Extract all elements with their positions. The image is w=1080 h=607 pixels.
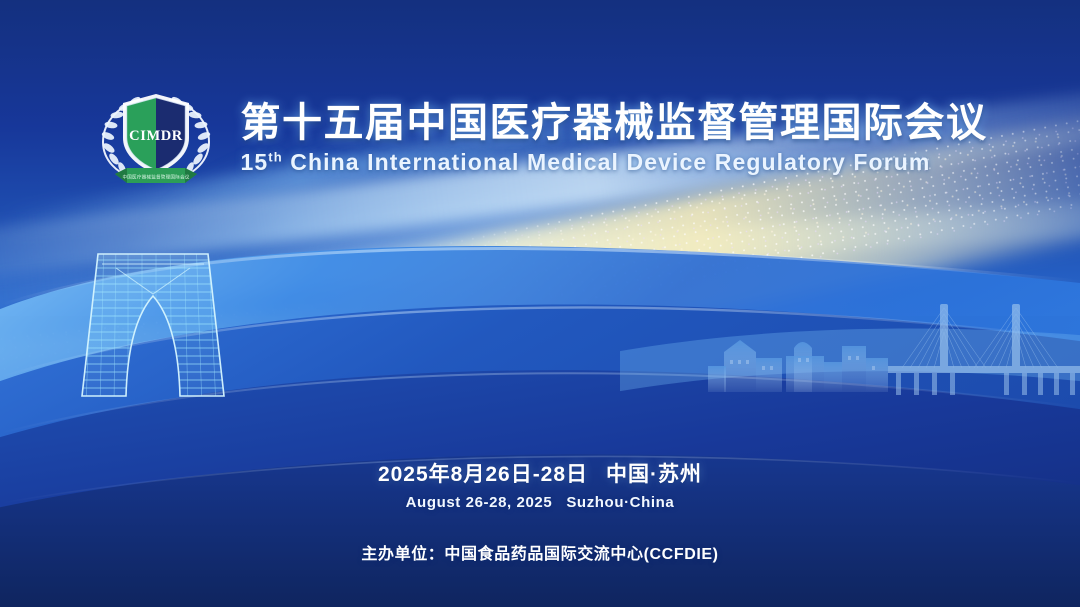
date-chinese: 2025年8月26日-28日	[378, 463, 588, 486]
organizer-line: 主办单位：中国食品药品国际交流中心(CCFDIE)	[0, 540, 1080, 564]
forum-edition-number: 15	[241, 149, 269, 175]
ribbon-banner: 中国医疗器械监督管理国际会议	[115, 168, 197, 183]
conference-banner: CIMDR 中国医疗器械监督管理国际会议 第十五届中国医疗器械监督管理国际会议 …	[0, 0, 1080, 607]
title-group: 第十五届中国医疗器械监督管理国际会议 15th China Internatio…	[241, 101, 988, 176]
date-line-chinese: 2025年8月26日-28日中国·苏州	[0, 458, 1080, 488]
title-chinese: 第十五届中国医疗器械监督管理国际会议	[241, 101, 988, 146]
ribbon-label: 中国医疗器械监督管理国际会议	[122, 174, 189, 181]
banner-header: CIMDR 中国医疗器械监督管理国际会议 第十五届中国医疗器械监督管理国际会议 …	[0, 88, 1080, 190]
location-english: Suzhou·China	[566, 494, 674, 511]
date-line-english: August 26-28, 2025Suzhou·China	[0, 494, 1080, 511]
city-skyline-icon	[690, 300, 900, 410]
date-location-block: 2025年8月26日-28日中国·苏州 August 26-28, 2025Su…	[0, 458, 1080, 511]
forum-edition-ordinal: th	[268, 149, 282, 164]
title-english: 15th China International Medical Device …	[241, 149, 988, 177]
forum-title-text: China International Medical Device Regul…	[290, 149, 930, 175]
cable-stayed-bridge-icon	[888, 292, 1080, 404]
location-chinese: 中国·苏州	[606, 463, 702, 486]
shield-label: CIMDR	[129, 128, 183, 144]
gate-of-the-orient-icon	[58, 238, 248, 406]
shield-icon: CIMDR	[123, 94, 189, 176]
cimdr-emblem-logo: CIMDR 中国医疗器械监督管理国际会议	[93, 88, 219, 190]
date-english: August 26-28, 2025	[406, 494, 553, 511]
